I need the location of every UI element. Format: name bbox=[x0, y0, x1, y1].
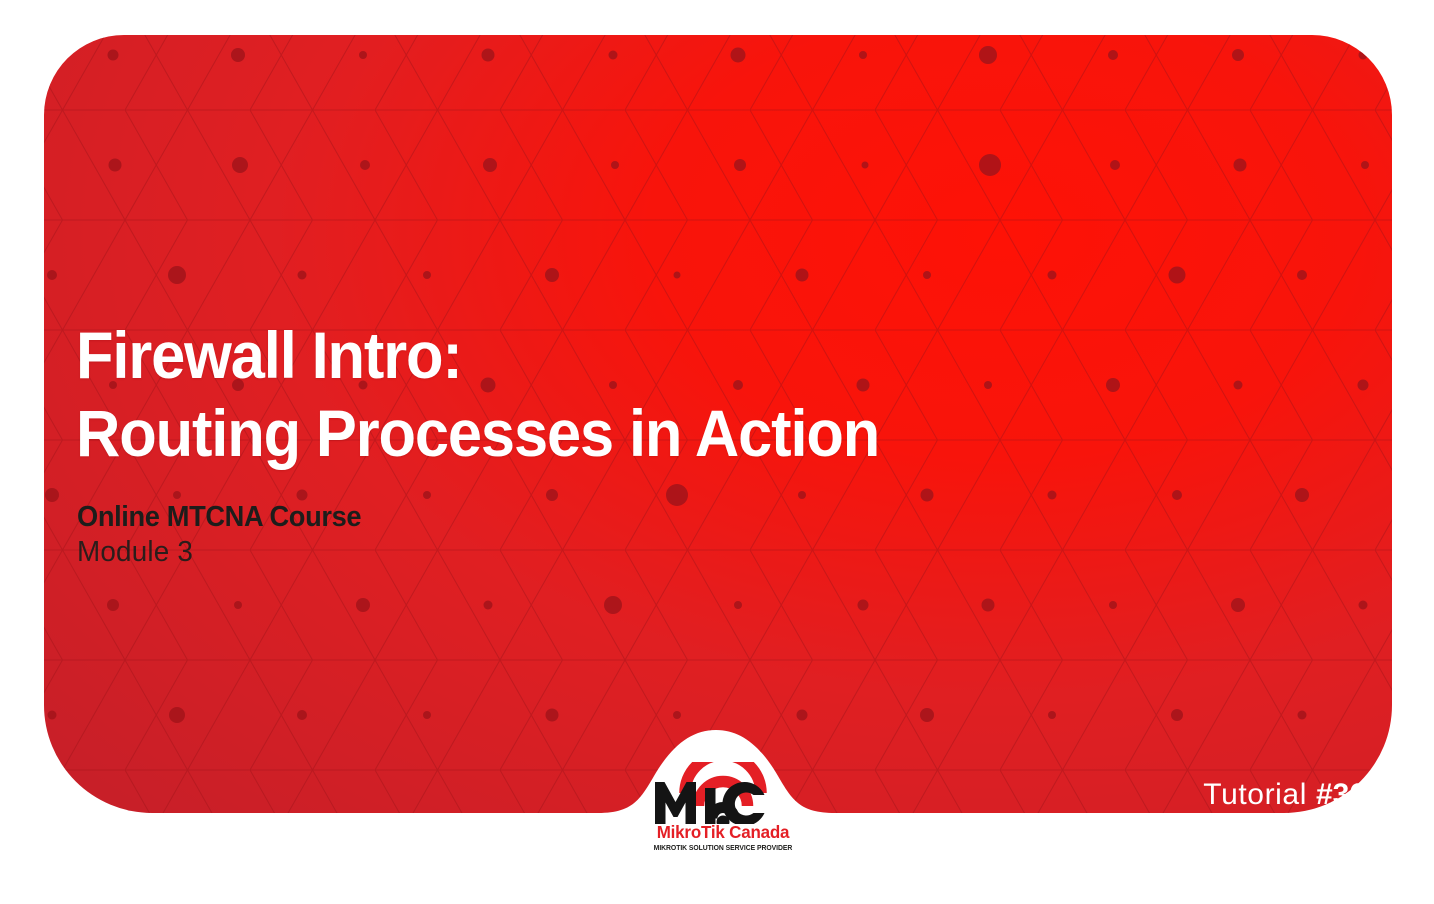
module-name: Module 3 bbox=[77, 534, 367, 570]
mikrotik-canada-logo: MikroTik Canada MIKROTIK SOLUTION SERVIC… bbox=[643, 762, 803, 894]
title-line-2: Routing Processes in Action bbox=[76, 394, 987, 472]
tutorial-number: #36 bbox=[1316, 778, 1366, 811]
subtitle-block: Online MTCNA Course Module 3 bbox=[77, 500, 379, 570]
logo-tagline: MIKROTIK SOLUTION SERVICE PROVIDER bbox=[647, 843, 799, 852]
logo-mark bbox=[643, 762, 803, 824]
page-title: Firewall Intro: Routing Processes in Act… bbox=[76, 316, 1056, 472]
logo-brand: MikroTik Canada bbox=[645, 823, 800, 842]
tutorial-badge: Tutorial #36 bbox=[1203, 778, 1366, 812]
title-line-1: Firewall Intro: bbox=[76, 316, 987, 394]
tutorial-label: Tutorial bbox=[1203, 778, 1307, 811]
wifi-signal-icon bbox=[643, 762, 803, 824]
course-name: Online MTCNA Course bbox=[77, 500, 361, 534]
